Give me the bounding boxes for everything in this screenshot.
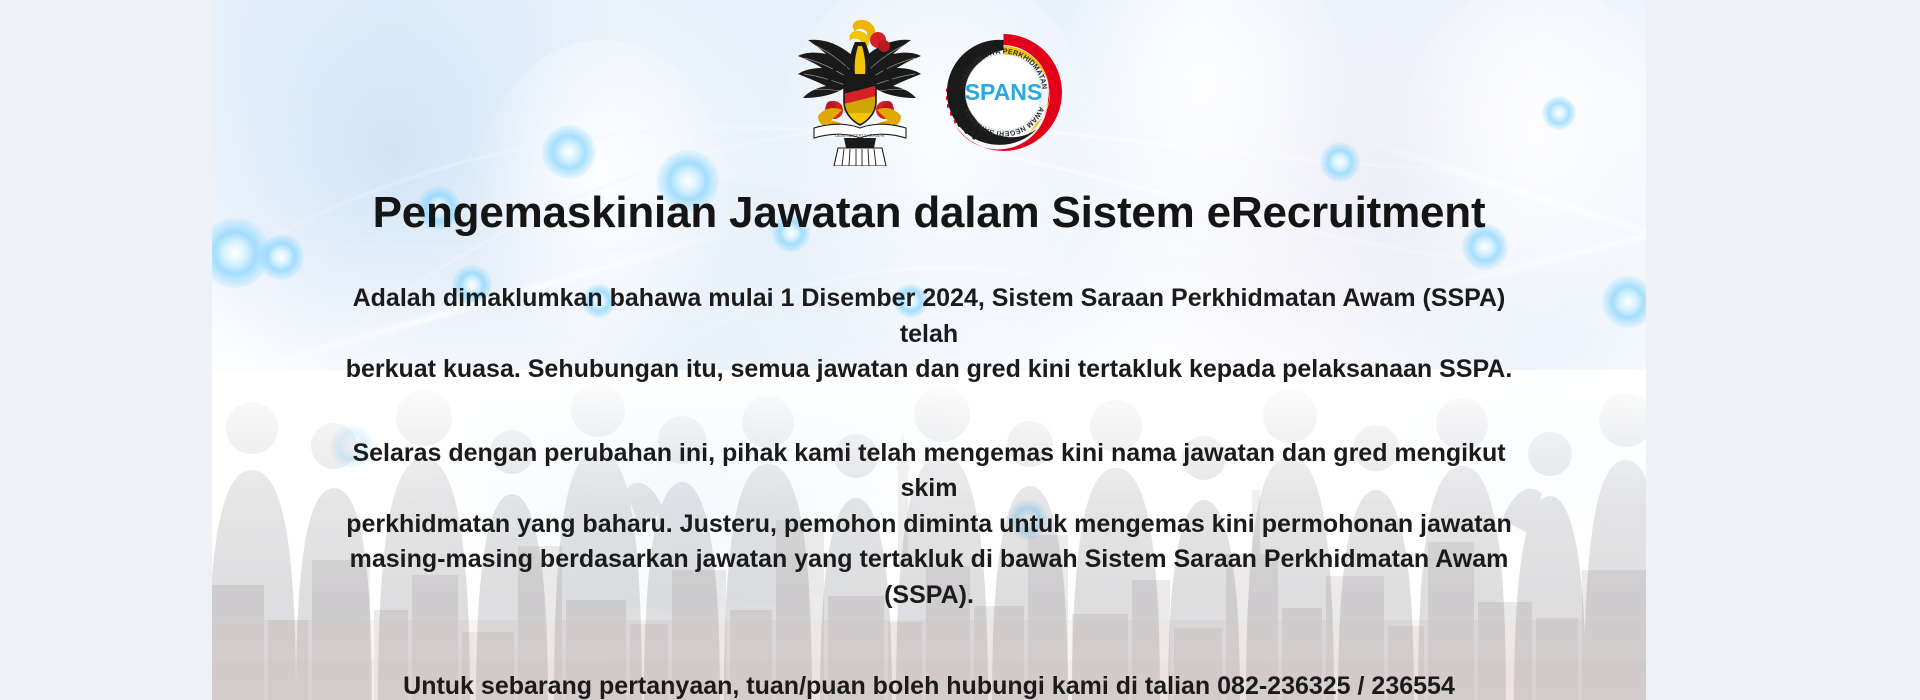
spans-logo-icon: SURUHANJAYA PERKHIDMATAN AWAM NEGERI SAR… (941, 30, 1066, 155)
banner-content: DEMI NEGERI SARAWAK (212, 0, 1646, 700)
announcement-paragraph-2: Selaras dengan perubahan ini, pihak kami… (329, 436, 1529, 614)
logo-row: DEMI NEGERI SARAWAK (212, 0, 1646, 160)
announcement-banner: DEMI NEGERI SARAWAK (212, 0, 1646, 700)
announcement-page: DEMI NEGERI SARAWAK (0, 0, 1920, 700)
paragraph-2-line-2: perkhidmatan yang baharu. Justeru, pemoh… (329, 507, 1529, 543)
svg-text:SPANS: SPANS (965, 79, 1043, 105)
paragraph-1-line-1: Adalah dimaklumkan bahawa mulai 1 Disemb… (329, 281, 1529, 352)
announcement-paragraph-1: Adalah dimaklumkan bahawa mulai 1 Disemb… (329, 281, 1529, 388)
paragraph-1-line-2: berkuat kuasa. Sehubungan itu, semua jaw… (329, 352, 1529, 388)
page-title: Pengemaskinian Jawatan dalam Sistem eRec… (212, 188, 1646, 237)
svg-text:DEMI NEGERI SARAWAK: DEMI NEGERI SARAWAK (835, 133, 885, 138)
sarawak-coat-of-arms-icon: DEMI NEGERI SARAWAK (792, 16, 927, 166)
paragraph-2-line-3: masing-masing berdasarkan jawatan yang t… (329, 542, 1529, 613)
paragraph-2-line-1: Selaras dengan perubahan ini, pihak kami… (329, 436, 1529, 507)
contact-line: Untuk sebarang pertanyaan, tuan/puan bol… (299, 669, 1559, 700)
